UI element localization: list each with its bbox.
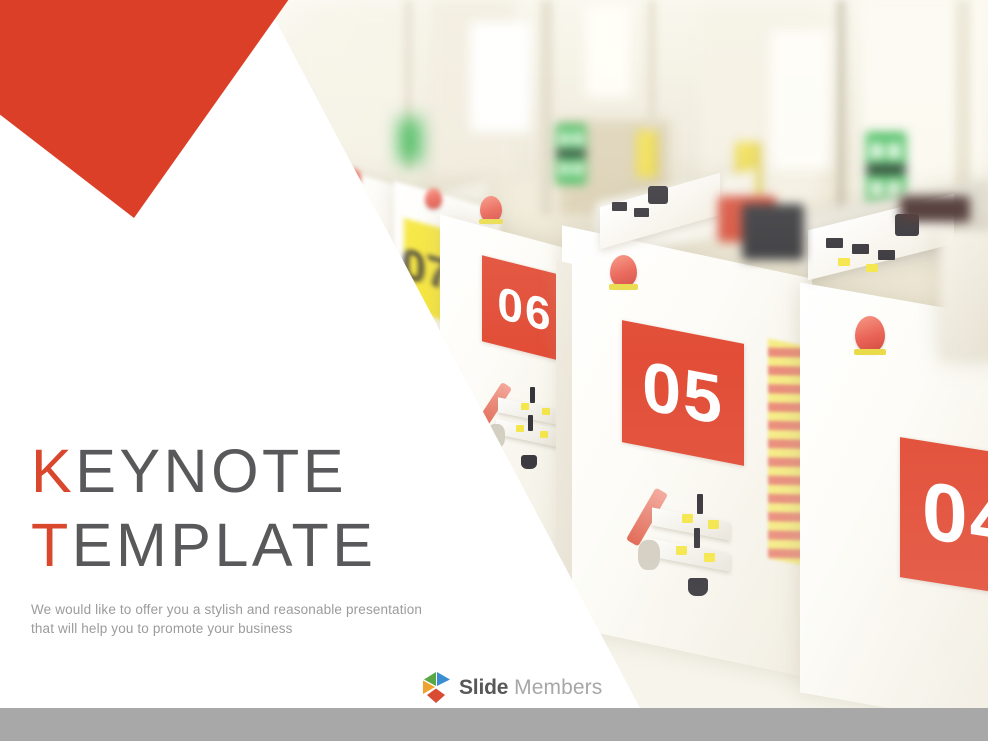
logo-brand-light: Members [508, 676, 602, 699]
subtitle: We would like to offer you a stylish and… [31, 600, 451, 638]
slide-members-logo: Slide Members [421, 671, 602, 704]
title-block: KEYNOTE TEMPLATE We would like to offer … [31, 434, 461, 638]
title-accent-k: K [31, 437, 75, 505]
subtitle-line-1: We would like to offer you a stylish and… [31, 600, 451, 619]
bottom-bar [0, 708, 988, 741]
page-title-line-2: TEMPLATE [31, 508, 461, 582]
presentation-slide: 08 07 06 05 [0, 0, 988, 741]
logo-brand-bold: Slide [459, 676, 508, 699]
title-accent-t: T [31, 511, 72, 579]
slide-members-pinwheel-icon [421, 671, 452, 704]
page-title-line-1: KEYNOTE [31, 434, 461, 508]
logo-wordmark: Slide Members [459, 677, 602, 698]
machine-placard-yellow: 08 [328, 191, 362, 274]
red-chevron-shape [0, 0, 294, 218]
subtitle-line-2: that will help you to promote your busin… [31, 619, 451, 638]
machine-placard-05: 05 [622, 320, 744, 466]
title-rest-template: EMPLATE [72, 511, 377, 579]
title-rest-keynote: EYNOTE [75, 437, 347, 505]
machine-placard-04: 04 [900, 437, 988, 603]
